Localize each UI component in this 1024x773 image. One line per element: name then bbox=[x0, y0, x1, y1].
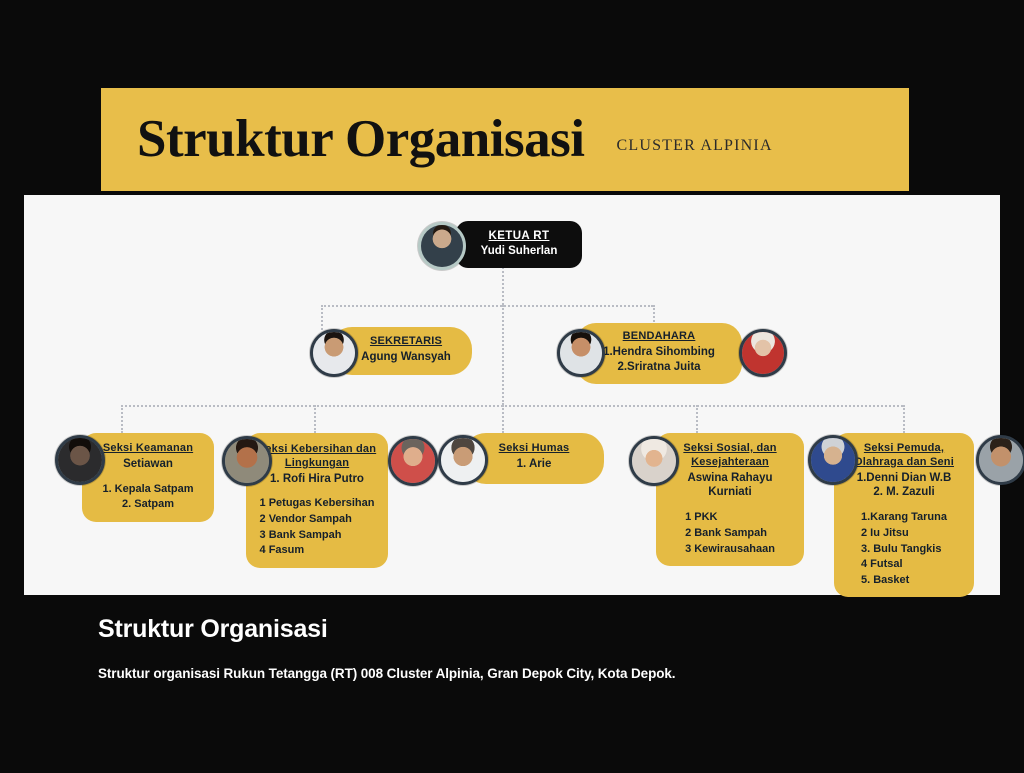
node-bendahara-name-1: 1.Hendra Sihombing bbox=[582, 345, 736, 360]
avatar-bendahara-2 bbox=[739, 329, 787, 377]
list-item: 4 Futsal bbox=[861, 557, 947, 573]
connector-level3-bus bbox=[121, 405, 903, 407]
node-seksi-humas[interactable]: Seksi Humas 1. Arie bbox=[420, 433, 604, 484]
list-item: 4 Fasum bbox=[260, 543, 375, 559]
connector-level3-drop-4 bbox=[696, 405, 698, 433]
avatar-kebersihan-1 bbox=[222, 436, 272, 486]
node-seksi-kebersihan-items: 1 Petugas Kebersihan 2 Vendor Sampah 3 B… bbox=[260, 496, 375, 558]
list-item: 5. Basket bbox=[861, 573, 947, 589]
avatar-humas bbox=[438, 435, 488, 485]
node-seksi-humas-name: 1. Arie bbox=[472, 457, 596, 472]
list-item: 2. Satpam bbox=[102, 497, 193, 513]
footer-description: Struktur organisasi Rukun Tetangga (RT) … bbox=[98, 666, 918, 681]
header-band: Struktur Organisasi CLUSTER ALPINIA bbox=[101, 88, 909, 191]
node-sekretaris[interactable]: SEKRETARIS Agung Wansyah bbox=[286, 327, 472, 375]
avatar-keamanan bbox=[55, 435, 105, 485]
list-item: 3 Kewirausahaan bbox=[685, 542, 775, 558]
list-item: 3. Bulu Tangkis bbox=[861, 542, 947, 558]
node-seksi-sosial-items: 1 PKK 2 Bank Sampah 3 Kewirausahaan bbox=[685, 510, 775, 557]
avatar-ketua-rt bbox=[418, 222, 466, 270]
slide-canvas: Struktur Organisasi CLUSTER ALPINIA KETU… bbox=[0, 0, 1024, 773]
node-seksi-kebersihan-role: Seksi Kebersihan dan Lingkungan bbox=[256, 443, 378, 471]
list-item: 2 Iu Jitsu bbox=[861, 526, 947, 542]
node-ketua-rt-role: KETUA RT bbox=[466, 229, 572, 243]
header-subtitle: CLUSTER ALPINIA bbox=[616, 137, 772, 155]
connector-level2-bus bbox=[321, 305, 653, 307]
node-seksi-pemuda-name-2: 2. M. Zazuli bbox=[844, 485, 964, 500]
node-sekretaris-name: Agung Wansyah bbox=[348, 350, 464, 365]
avatar-sekretaris bbox=[310, 329, 358, 377]
list-item: 1. Kepala Satpam bbox=[102, 482, 193, 498]
list-item: 1 Petugas Kebersihan bbox=[260, 496, 375, 512]
node-seksi-pemuda[interactable]: Seksi Pemuda, Olahraga dan Seni 1.Denni … bbox=[804, 433, 996, 597]
footer-title: Struktur Organisasi bbox=[98, 615, 918, 644]
node-bendahara-role: BENDAHARA bbox=[582, 330, 736, 344]
connector-level3-drop-2 bbox=[314, 405, 316, 433]
node-seksi-keamanan-role: Seksi Keamanan bbox=[92, 442, 204, 456]
page-title: Struktur Organisasi bbox=[137, 113, 584, 166]
node-seksi-pemuda-name-1: 1.Denni Dian W.B bbox=[844, 471, 964, 486]
avatar-pemuda-1 bbox=[808, 435, 858, 485]
node-bendahara-name-2: 2.Sriratna Juita bbox=[582, 360, 736, 375]
node-ketua-rt[interactable]: KETUA RT Yudi Suherlan bbox=[422, 221, 582, 268]
connector-root-stem bbox=[502, 263, 504, 305]
connector-level3-drop-5 bbox=[903, 405, 905, 433]
node-seksi-keamanan-box[interactable]: Seksi Keamanan Setiawan 1. Kepala Satpam… bbox=[82, 433, 214, 522]
avatar-kebersihan-2 bbox=[388, 436, 438, 486]
list-item: 3 Bank Sampah bbox=[260, 528, 375, 544]
node-seksi-keamanan[interactable]: Seksi Keamanan Setiawan 1. Kepala Satpam… bbox=[38, 433, 214, 522]
node-seksi-sosial-box[interactable]: Seksi Sosial, dan Kesejahteraan Aswina R… bbox=[656, 433, 804, 566]
avatar-sosial bbox=[629, 436, 679, 486]
node-seksi-sosial-role: Seksi Sosial, dan Kesejahteraan bbox=[666, 442, 794, 470]
node-seksi-kebersihan-name: 1. Rofi Hira Putro bbox=[256, 472, 378, 487]
org-chart-canvas: KETUA RT Yudi Suherlan SEKRETARIS Agung … bbox=[24, 195, 1000, 595]
node-seksi-sosial-name: Aswina Rahayu Kurniati bbox=[666, 471, 794, 501]
node-sekretaris-role: SEKRETARIS bbox=[348, 335, 464, 349]
node-seksi-keamanan-name: Setiawan bbox=[92, 457, 204, 472]
footer: Struktur Organisasi Struktur organisasi … bbox=[98, 615, 918, 681]
node-seksi-kebersihan[interactable]: Seksi Kebersihan dan Lingkungan 1. Rofi … bbox=[204, 433, 404, 568]
list-item: 1.Karang Taruna bbox=[861, 510, 947, 526]
node-seksi-pemuda-items: 1.Karang Taruna 2 Iu Jitsu 3. Bulu Tangk… bbox=[861, 510, 947, 588]
node-seksi-sosial[interactable]: Seksi Sosial, dan Kesejahteraan Aswina R… bbox=[614, 433, 804, 566]
list-item: 2 Bank Sampah bbox=[685, 526, 775, 542]
node-bendahara[interactable]: BENDAHARA 1.Hendra Sihombing 2.Sriratna … bbox=[536, 323, 780, 384]
list-item: 1 PKK bbox=[685, 510, 775, 526]
node-seksi-keamanan-items: 1. Kepala Satpam 2. Satpam bbox=[102, 482, 193, 513]
node-seksi-pemuda-role: Seksi Pemuda, Olahraga dan Seni bbox=[844, 442, 964, 470]
avatar-bendahara-1 bbox=[557, 329, 605, 377]
node-ketua-rt-box[interactable]: KETUA RT Yudi Suherlan bbox=[456, 221, 582, 268]
connector-level3-stem bbox=[502, 305, 504, 405]
avatar-pemuda-2 bbox=[976, 435, 1024, 485]
node-ketua-rt-name: Yudi Suherlan bbox=[466, 244, 572, 259]
connector-level3-drop-1 bbox=[121, 405, 123, 433]
list-item: 2 Vendor Sampah bbox=[260, 512, 375, 528]
connector-level3-drop-3 bbox=[502, 405, 504, 433]
node-seksi-humas-role: Seksi Humas bbox=[472, 442, 596, 456]
